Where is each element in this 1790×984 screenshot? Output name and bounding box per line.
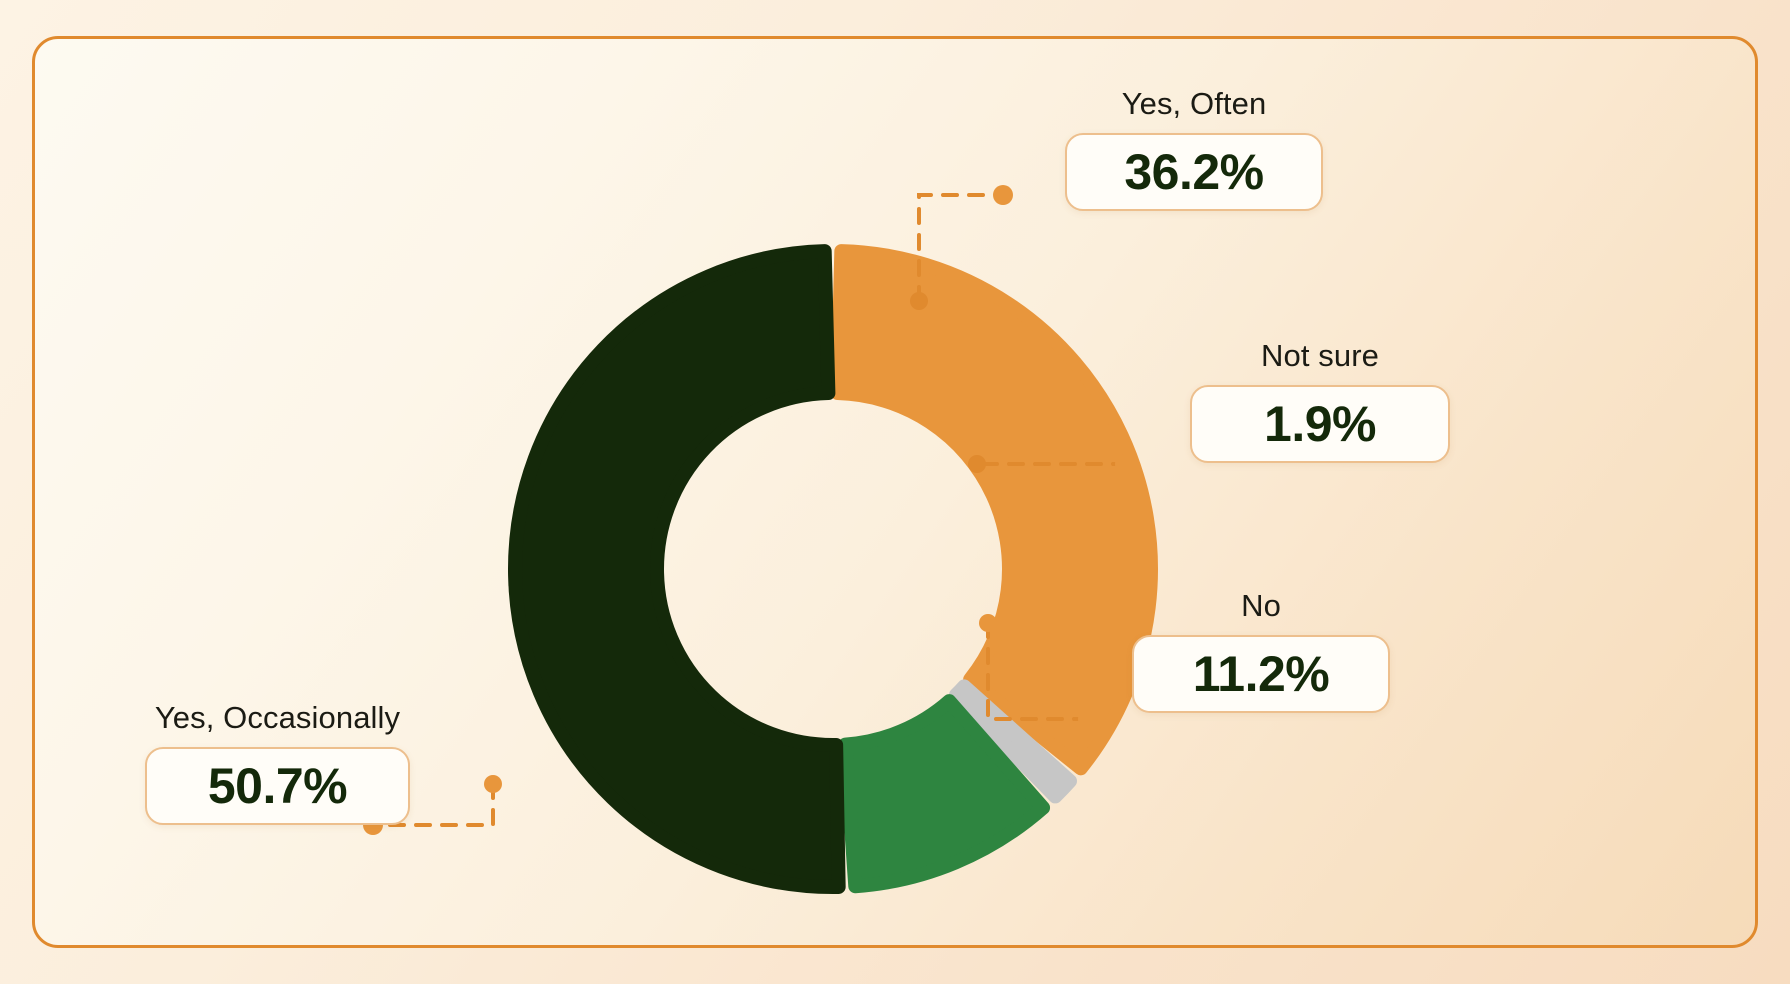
donut-slice-yes-often[interactable] bbox=[838, 251, 1151, 768]
callout-label-not-sure: Not sure bbox=[1261, 339, 1379, 373]
callout-label-yes-often: Yes, Often bbox=[1122, 87, 1267, 121]
donut-slice-yes-occasionally[interactable] bbox=[515, 251, 839, 887]
chart-card: Yes, Often 36.2% Not sure 1.9% No 11.2% … bbox=[32, 36, 1758, 948]
callout-label-no: No bbox=[1241, 589, 1281, 623]
value-text-not-sure: 1.9% bbox=[1264, 399, 1376, 449]
callout-label-yes-occasionally: Yes, Occasionally bbox=[155, 701, 400, 735]
value-text-yes-occasionally: 50.7% bbox=[208, 761, 347, 811]
value-box-yes-often[interactable]: 36.2% bbox=[1065, 133, 1323, 211]
callout-no: No 11.2% bbox=[1132, 589, 1390, 713]
value-box-no[interactable]: 11.2% bbox=[1132, 635, 1390, 713]
donut-chart bbox=[493, 229, 1173, 909]
callout-yes-occasionally: Yes, Occasionally 50.7% bbox=[145, 701, 410, 825]
leader-dot-label-yes-often bbox=[993, 185, 1013, 205]
value-text-yes-often: 36.2% bbox=[1124, 147, 1263, 197]
value-text-no: 11.2% bbox=[1193, 649, 1330, 699]
value-box-yes-occasionally[interactable]: 50.7% bbox=[145, 747, 410, 825]
callout-not-sure: Not sure 1.9% bbox=[1190, 339, 1450, 463]
donut-chart-svg bbox=[493, 229, 1173, 909]
callout-yes-often: Yes, Often 36.2% bbox=[1065, 87, 1323, 211]
value-box-not-sure[interactable]: 1.9% bbox=[1190, 385, 1450, 463]
